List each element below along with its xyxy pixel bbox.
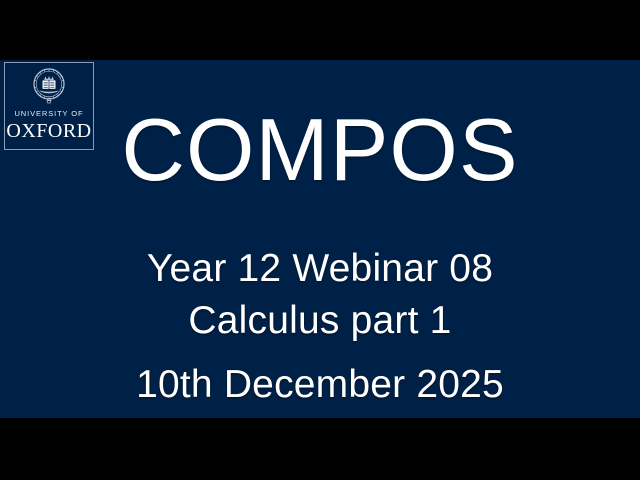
subtitle-block: Year 12 Webinar 08 Calculus part 1 10th … xyxy=(0,243,640,411)
letterbox-bar-bottom xyxy=(0,418,640,480)
presentation-slide: UNIVERSITY OF OXFORD COMPOS Year 12 Webi… xyxy=(0,60,640,418)
subtitle-line-2: Calculus part 1 xyxy=(0,295,640,347)
slide-screen: UNIVERSITY OF OXFORD COMPOS Year 12 Webi… xyxy=(0,0,640,480)
letterbox-bar-top xyxy=(0,0,640,60)
subtitle-line-1: Year 12 Webinar 08 xyxy=(0,243,640,295)
page-title: COMPOS xyxy=(0,102,640,198)
subtitle-line-3: 10th December 2025 xyxy=(0,359,640,411)
